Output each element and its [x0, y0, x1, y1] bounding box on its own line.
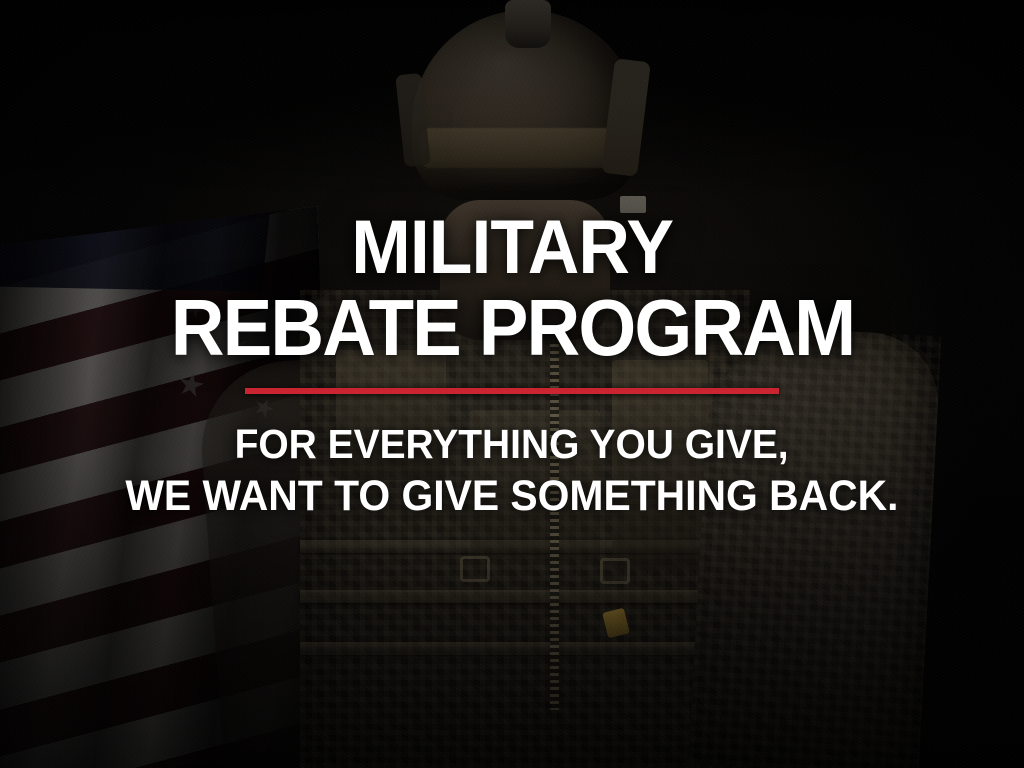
headline-line-2: REBATE PROGRAM — [170, 290, 854, 366]
red-divider-rule — [245, 388, 779, 394]
subheadline-line-2: WE WANT TO GIVE SOMETHING BACK. — [125, 472, 898, 520]
headline-line-1: MILITARY — [351, 212, 673, 284]
subheadline-line-1: FOR EVERYTHING YOU GIVE, — [235, 422, 789, 468]
text-overlay: MILITARY REBATE PROGRAM FOR EVERYTHING Y… — [0, 0, 1024, 768]
military-rebate-poster: MILITARY REBATE PROGRAM FOR EVERYTHING Y… — [0, 0, 1024, 768]
